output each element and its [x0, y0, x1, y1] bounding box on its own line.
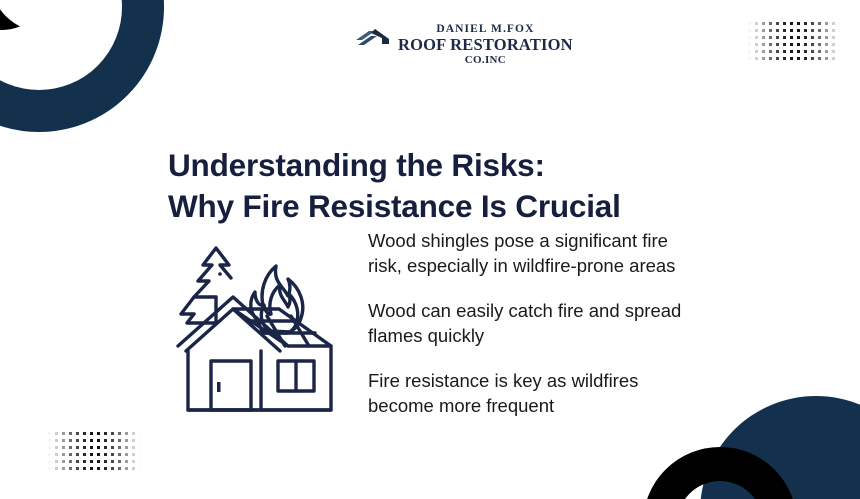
- body-text-column: Wood shingles pose a significant fire ri…: [368, 229, 698, 418]
- slide-canvas: DANIEL M.FOX ROOF RESTORATION CO.INC Und…: [0, 0, 860, 499]
- pine-tree-icon: [194, 248, 231, 297]
- body-paragraph: Fire resistance is key as wildfires beco…: [368, 369, 698, 418]
- logo-line-3: CO.INC: [465, 55, 506, 66]
- roof-logo-icon: [355, 26, 395, 48]
- door-handle-icon: [217, 382, 221, 392]
- burning-house-illustration: [163, 224, 353, 416]
- body-paragraph: Wood shingles pose a significant fire ri…: [368, 229, 698, 278]
- body-paragraph: Wood can easily catch fire and spread fl…: [368, 299, 698, 348]
- headline-line-2: Why Fire Resistance Is Crucial: [168, 186, 768, 227]
- dot-grid-pattern-icon: [748, 22, 840, 67]
- logo-line-2: ROOF RESTORATION: [398, 37, 573, 54]
- headline-line-1: Understanding the Risks:: [168, 145, 768, 186]
- logo-line-1: DANIEL M.FOX: [436, 24, 534, 36]
- brand-logo: DANIEL M.FOX ROOF RESTORATION CO.INC: [355, 24, 573, 66]
- page-title: Understanding the Risks: Why Fire Resist…: [168, 145, 768, 227]
- dot-grid-pattern-icon: [48, 432, 140, 477]
